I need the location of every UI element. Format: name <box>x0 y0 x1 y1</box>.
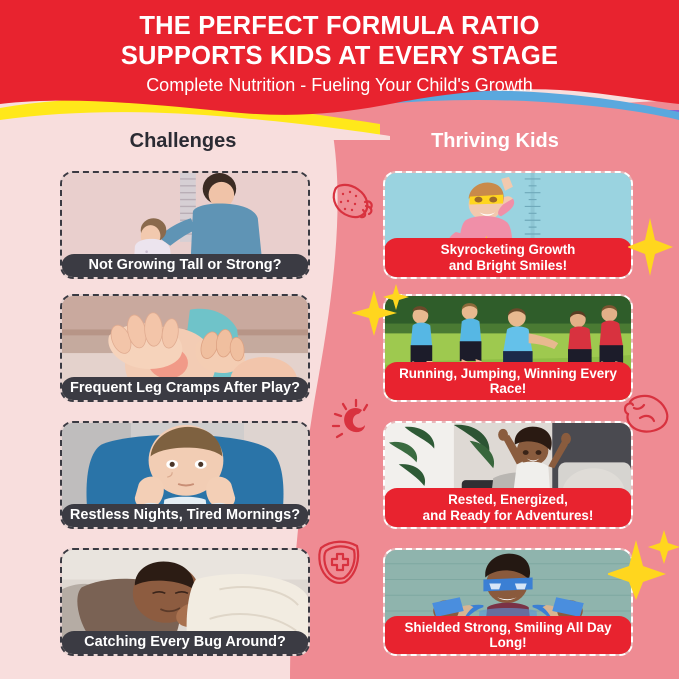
shield-health-icon <box>313 534 367 590</box>
sparkle-icon <box>628 216 674 278</box>
challenge-caption-3: Restless Nights, Tired Mornings? <box>61 504 309 529</box>
challenge-card-2[interactable]: Frequent Leg Cramps After Play? <box>60 294 310 402</box>
strawberry-icon <box>325 172 377 224</box>
thriving-caption-4: Shielded Strong, Smiling All Day Long! <box>384 616 632 656</box>
thriving-card-2[interactable]: Running, Jumping, Winning Every Race! <box>383 294 633 402</box>
thriving-caption-1-line2: and Bright Smiles! <box>390 258 626 274</box>
thriving-caption-3-line1: Rested, Energized, <box>390 492 626 508</box>
thriving-caption-3-line2: and Ready for Adventures! <box>390 508 626 524</box>
challenge-caption-4: Catching Every Bug Around? <box>61 631 309 656</box>
thriving-caption-2: Running, Jumping, Winning Every Race! <box>384 362 632 402</box>
sun-icon <box>330 396 378 444</box>
thriving-caption-1: Skyrocketing Growth and Bright Smiles! <box>384 238 632 279</box>
thriving-caption-3: Rested, Energized, and Ready for Adventu… <box>384 488 632 529</box>
header-title-line2: SUPPORTS KIDS AT EVERY STAGE <box>121 41 558 71</box>
thriving-caption-1-line1: Skyrocketing Growth <box>390 242 626 258</box>
sparkle-icon <box>352 282 410 338</box>
sparkle-icon <box>608 524 679 600</box>
muscle-arm-icon <box>620 388 674 438</box>
header-subtitle: Complete Nutrition - Fueling Your Child'… <box>146 71 533 99</box>
challenge-card-4[interactable]: Catching Every Bug Around? <box>60 548 310 656</box>
header-banner: THE PERFECT FORMULA RATIO SUPPORTS KIDS … <box>0 0 679 122</box>
header-title-line1: THE PERFECT FORMULA RATIO <box>139 11 539 41</box>
column-heading-challenges: Challenges <box>48 130 318 153</box>
thriving-card-3[interactable]: Rested, Energized, and Ready for Adventu… <box>383 421 633 529</box>
column-heading-thriving: Thriving Kids <box>360 130 630 153</box>
challenge-card-1[interactable]: Not Growing Tall or Strong? <box>60 171 310 279</box>
challenge-card-3[interactable]: Restless Nights, Tired Mornings? <box>60 421 310 529</box>
thriving-card-1[interactable]: Skyrocketing Growth and Bright Smiles! <box>383 171 633 279</box>
challenge-caption-2: Frequent Leg Cramps After Play? <box>61 377 309 402</box>
thriving-card-4[interactable]: Shielded Strong, Smiling All Day Long! <box>383 548 633 656</box>
challenge-caption-1: Not Growing Tall or Strong? <box>61 254 309 279</box>
